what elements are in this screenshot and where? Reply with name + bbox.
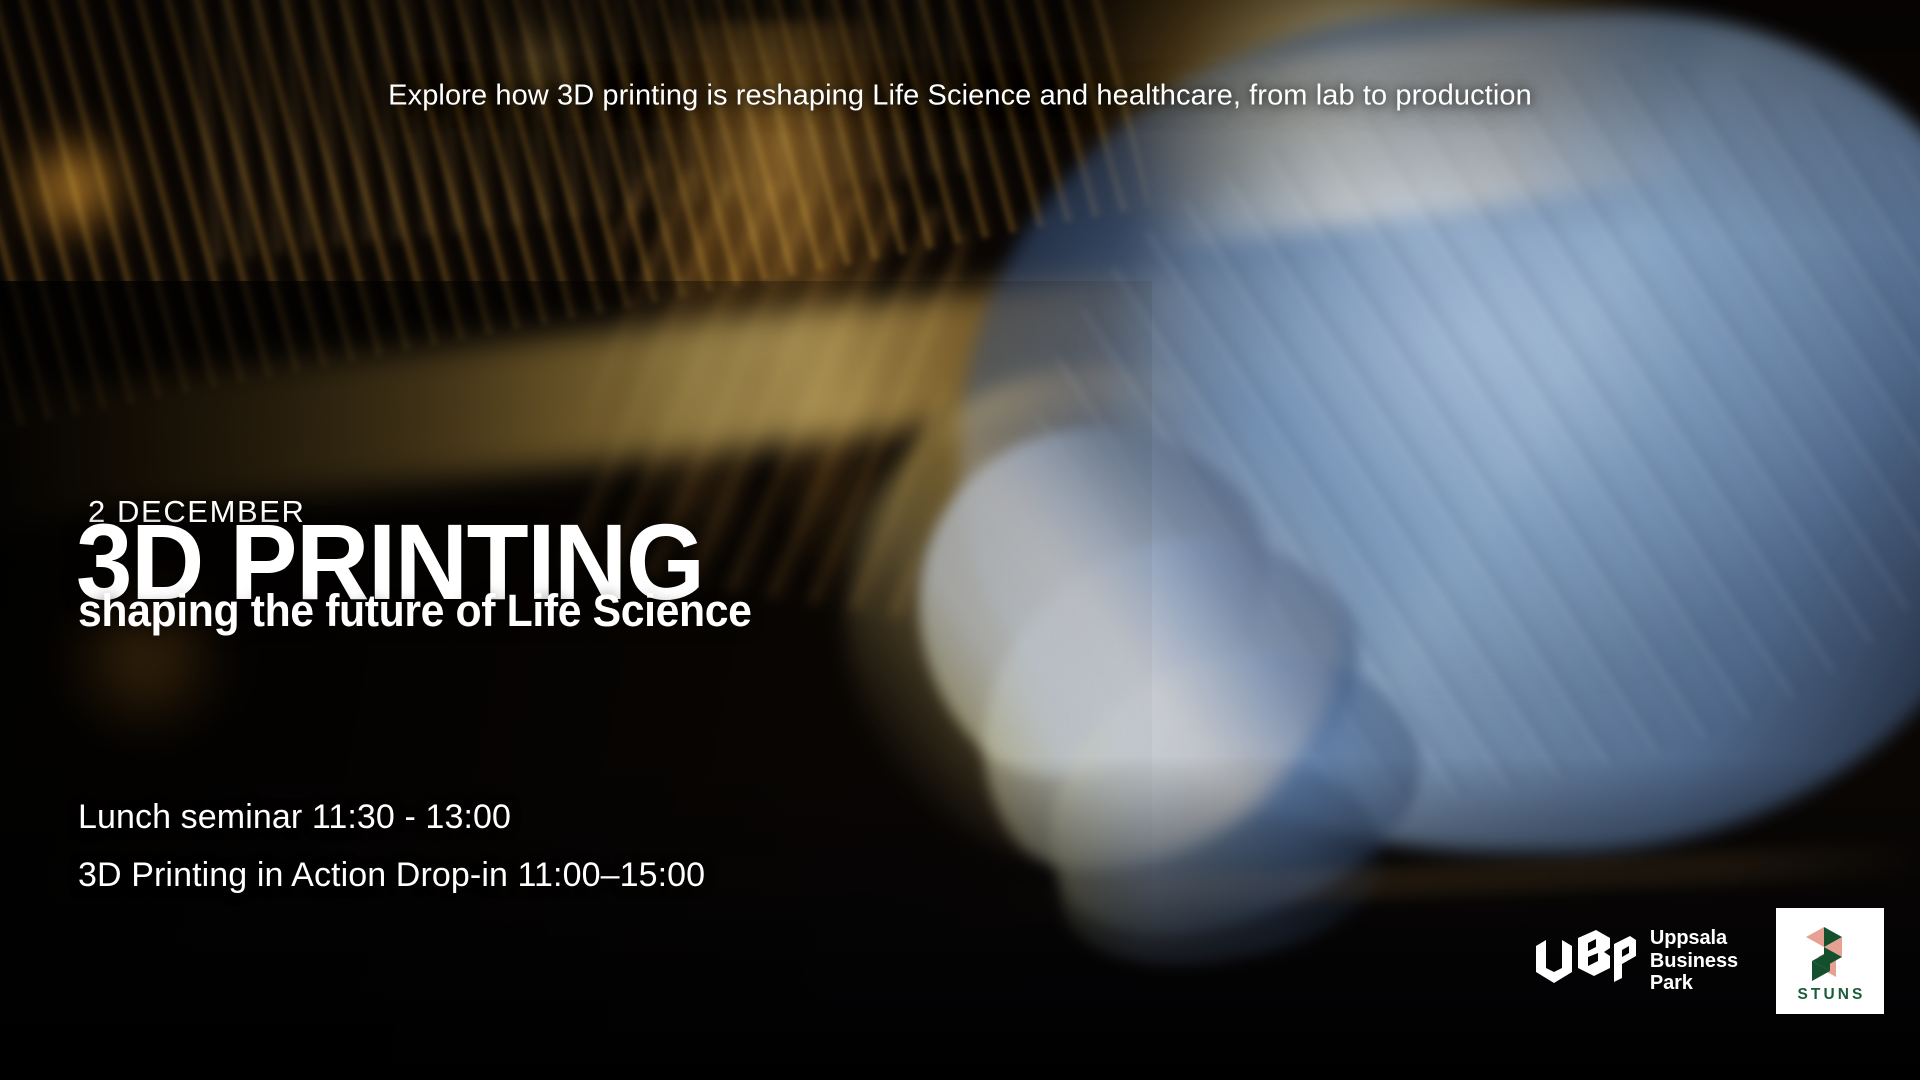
stuns-logo: STUNS bbox=[1776, 908, 1884, 1014]
page-subtitle: shaping the future of Life Science bbox=[78, 588, 752, 633]
event-banner: Explore how 3D printing is reshaping Lif… bbox=[0, 0, 1920, 1080]
ubp-isometric-monogram-icon bbox=[1532, 930, 1636, 992]
uppsala-business-park-logo: Uppsala Business Park bbox=[1532, 927, 1738, 994]
stuns-wordmark: STUNS bbox=[1794, 987, 1865, 1003]
stuns-chevron-icon bbox=[1800, 921, 1860, 983]
tagline-text: Explore how 3D printing is reshaping Lif… bbox=[0, 79, 1920, 114]
ubp-wordmark: Uppsala Business Park bbox=[1650, 927, 1738, 994]
logo-row: Uppsala Business Park STUNS bbox=[1532, 908, 1884, 1014]
schedule-line-dropin: 3D Printing in Action Drop-in 11:00–15:0… bbox=[78, 858, 705, 892]
schedule-line-seminar: Lunch seminar 11:30 - 13:00 bbox=[78, 800, 511, 834]
